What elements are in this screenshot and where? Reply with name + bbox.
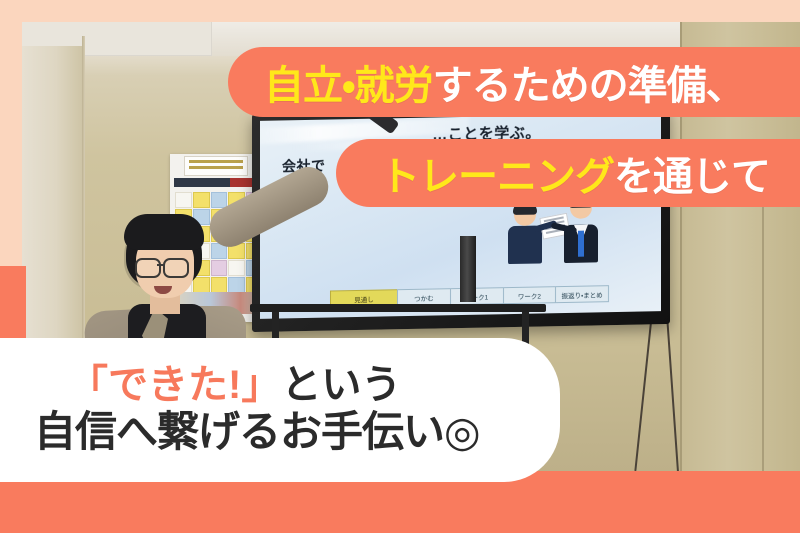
headline-second-rest: を通じて <box>614 144 770 202</box>
headline-top-highlight: 自立・就労 <box>264 53 433 111</box>
illustration-figure-left <box>505 201 545 264</box>
glasses-bridge <box>157 264 165 266</box>
tagline-highlight: 「できた!」 <box>68 363 281 407</box>
tagline-line-1: 「できた!」という <box>10 364 560 406</box>
frame-left-peach <box>0 0 22 266</box>
promo-banner-stage: …ことを学ぶ。 会社で <box>0 0 800 533</box>
poster-title-band <box>174 178 264 187</box>
poster-header <box>184 156 248 176</box>
glasses-lens-right <box>163 258 189 278</box>
glasses-lens-left <box>135 258 161 278</box>
tagline-line-1-rest: という <box>281 363 401 407</box>
slide-nav-tab-3[interactable]: ワーク1 <box>450 287 504 305</box>
headline-second-highlight: トレーニング <box>380 144 614 202</box>
tv-stand-neck <box>460 236 476 302</box>
hair-front <box>124 214 204 250</box>
headline-banner-top: 自立・就労するための準備、 <box>228 47 800 117</box>
tagline-banner: 「できた!」という 自信へ繋げるお手伝い◎ <box>0 338 560 482</box>
headline-banner-second: トレーニングを通じて <box>336 139 800 207</box>
slide-nav-tab-5[interactable]: 振返り・まとめ <box>555 285 609 303</box>
frame-top-peach <box>0 0 800 22</box>
slide-nav-tab-4[interactable]: ワーク2 <box>503 286 557 304</box>
headline-top-rest: するための準備、 <box>433 53 745 111</box>
tagline-line-2: 自信へ繋げるお手伝い◎ <box>10 408 560 455</box>
